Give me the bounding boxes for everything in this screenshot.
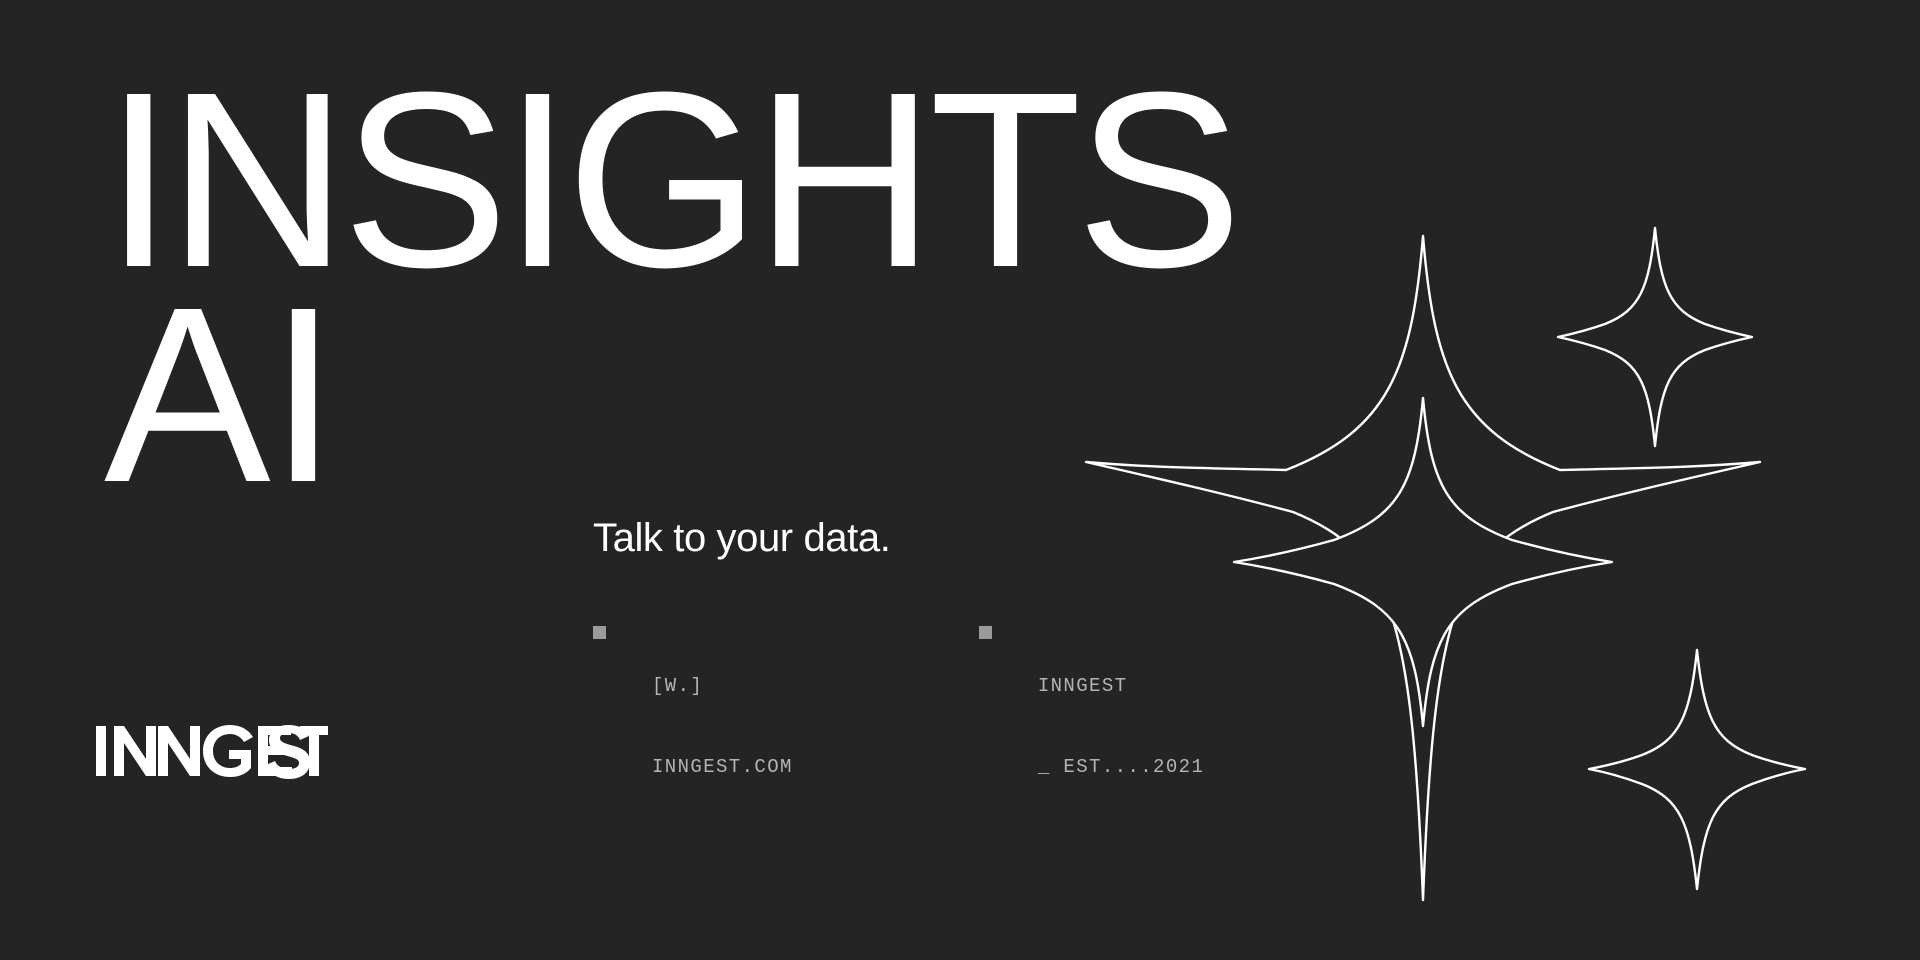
page-title: INSIGHTS AI bbox=[104, 72, 1237, 502]
meta-company-label: INNGEST bbox=[1038, 673, 1204, 700]
inngest-logo-icon bbox=[96, 722, 328, 780]
insights-ai-banner: INSIGHTS AI Talk to your data. [W.] INNG… bbox=[0, 0, 1920, 960]
star-small-top-right bbox=[1558, 228, 1752, 446]
meta-company-established: _ EST....2021 bbox=[1038, 754, 1204, 781]
meta-item-company-text: INNGEST _ EST....2021 bbox=[1038, 619, 1204, 835]
meta-item-company: INNGEST _ EST....2021 bbox=[979, 619, 1204, 835]
square-bullet-icon bbox=[979, 626, 992, 639]
meta-item-website-text: [W.] INNGEST.COM bbox=[652, 619, 793, 835]
meta-item-website: [W.] INNGEST.COM bbox=[593, 619, 793, 835]
meta-website-label: [W.] bbox=[652, 673, 793, 700]
tagline: Talk to your data. bbox=[593, 516, 890, 560]
star-large-inner bbox=[1234, 398, 1612, 726]
meta-row: [W.] INNGEST.COM INNGEST _ EST....2021 bbox=[593, 619, 1204, 835]
meta-website-value: INNGEST.COM bbox=[652, 754, 793, 781]
star-small-bottom-right bbox=[1589, 650, 1805, 889]
square-bullet-icon bbox=[593, 626, 606, 639]
headline-line-ai: AI bbox=[104, 287, 1237, 502]
